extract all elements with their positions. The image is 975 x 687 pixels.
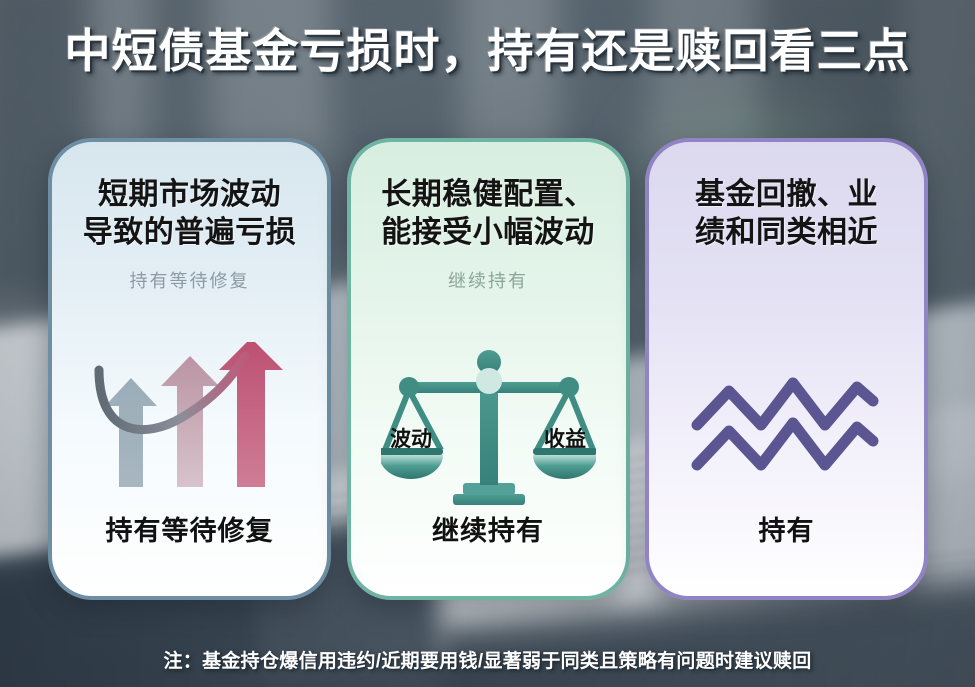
arrow-bar-tall [219,342,283,487]
rising-arrows-recovery-icon [52,338,327,510]
card-row: 短期市场波动 导致的普遍亏损 持有等待修复 [48,138,928,600]
scale-label-right: 收益 [544,427,586,451]
card-title-line: 绩和同类相近 [665,214,908,252]
card-drawdown-peer-comparable[interactable]: 基金回撤、业 绩和同类相近 持有 [645,138,928,600]
infographic-page: 中短债基金亏损时，持有还是赎回看三点 短期市场波动 导致的普遍亏损 持有等待修复 [0,0,975,687]
card-title-line: 导致的普遍亏损 [68,214,311,252]
scale-base [453,494,525,505]
balance-scale-icon: 波动 收益 [351,338,626,510]
card-title: 长期稳健配置、 能接受小幅波动 [367,176,610,253]
zigzag-line-lower [697,423,873,465]
page-title: 中短债基金亏损时，持有还是赎回看三点 [0,26,975,77]
scale-pan-right [533,455,596,479]
card-subtitle: 持有等待修复 [68,267,311,293]
footer-note: 注：基金持仓爆信用违约/近期要用钱/显著弱于同类且策略有问题时建议赎回 [0,646,975,673]
card-title-line: 基金回撤、业 [665,176,908,214]
card-footer-label: 持有 [649,509,924,548]
card-footer-label: 持有等待修复 [52,509,327,548]
zigzag-volatility-icon [649,338,924,510]
card-title-line: 短期市场波动 [68,176,311,214]
card-title-line: 长期稳健配置、 [367,176,610,214]
card-short-term-volatility[interactable]: 短期市场波动 导致的普遍亏损 持有等待修复 [48,138,331,600]
scale-pan-left [381,455,443,479]
card-title: 基金回撤、业 绩和同类相近 [665,176,908,253]
card-title: 短期市场波动 导致的普遍亏损 [68,176,311,253]
card-subtitle: 继续持有 [367,267,610,293]
scale-label-left: 波动 [390,427,432,451]
card-footer-label: 继续持有 [351,509,626,548]
card-long-term-allocation[interactable]: 长期稳健配置、 能接受小幅波动 继续持有 [347,138,630,600]
scale-pivot [476,368,502,394]
zigzag-line-upper [697,383,873,425]
card-title-line: 能接受小幅波动 [367,214,610,252]
